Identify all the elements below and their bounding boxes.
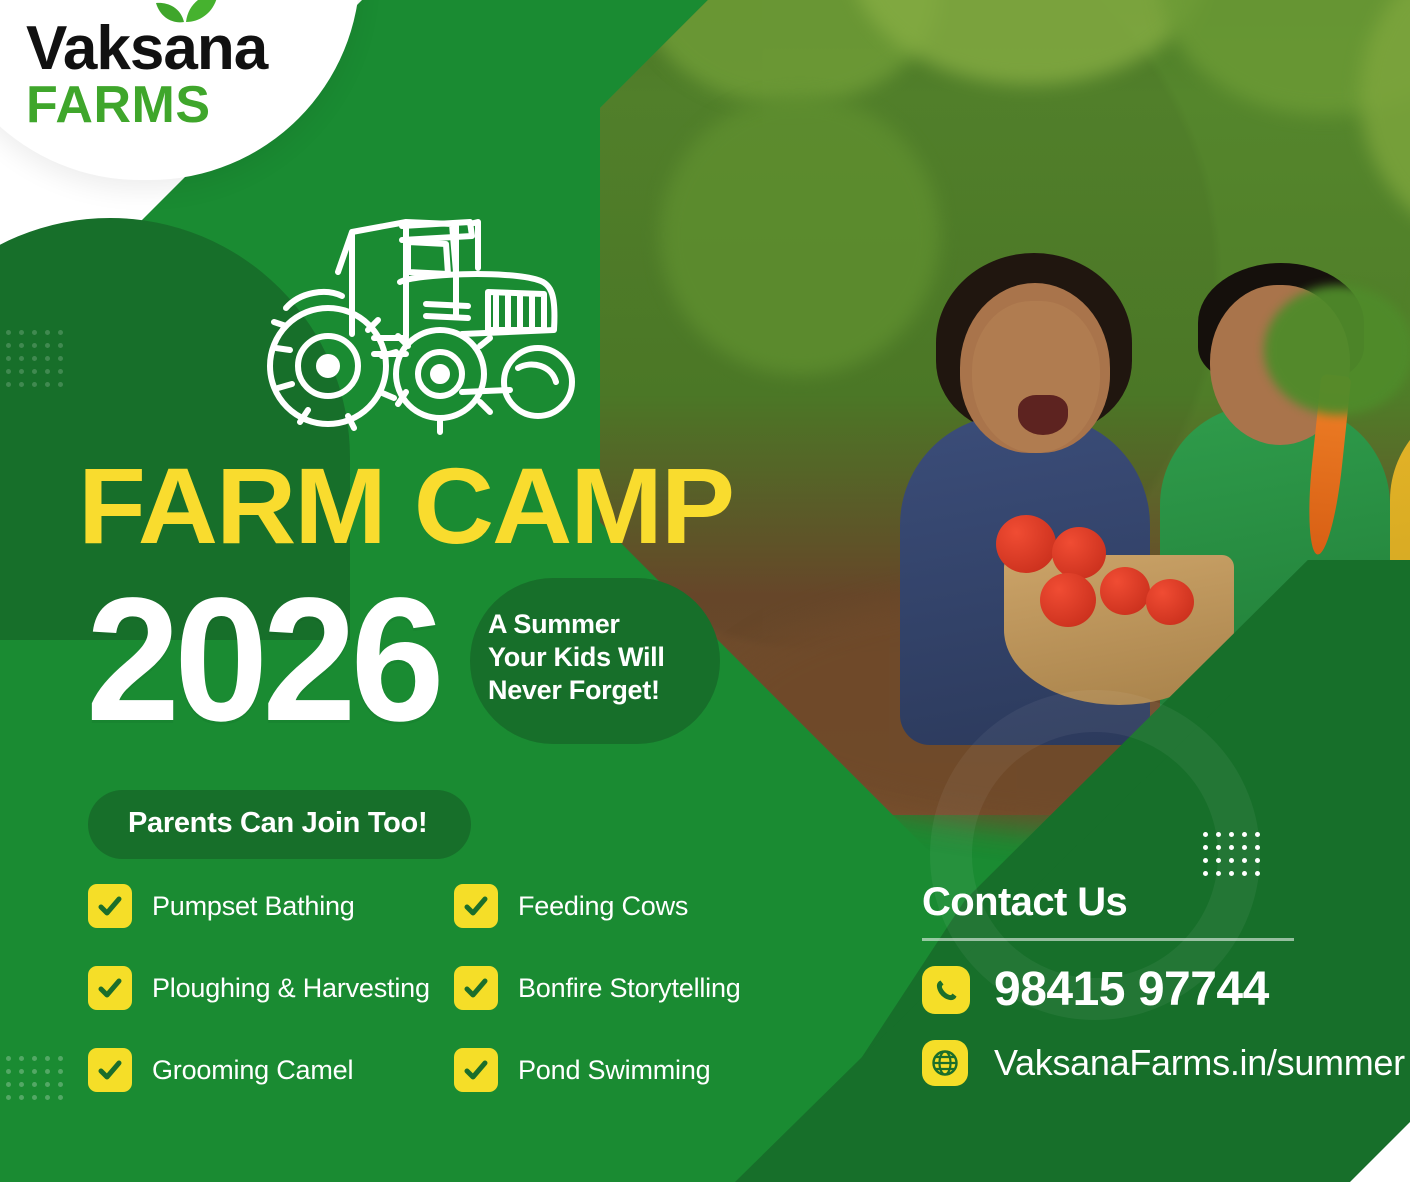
tagline-line-3: Never Forget!	[488, 674, 665, 707]
year-label: 2026	[86, 572, 439, 748]
check-icon	[454, 966, 498, 1010]
farm-camp-poster: Vaksana FARMS	[0, 0, 1410, 1182]
check-icon	[88, 1048, 132, 1092]
contact-website-url: VaksanaFarms.in/summer	[994, 1042, 1405, 1084]
list-item-label: Ploughing & Harvesting	[152, 973, 430, 1004]
dot-grid-bottom-left	[6, 1056, 71, 1108]
list-item: Feeding Cows	[454, 884, 778, 928]
tagline: A Summer Your Kids Will Never Forget!	[488, 608, 665, 708]
contact-phone[interactable]: 98415 97744	[922, 962, 1269, 1017]
brand-name-bottom: FARMS	[26, 78, 346, 133]
parents-badge-label: Parents Can Join Too!	[128, 807, 427, 839]
list-item-label: Bonfire Storytelling	[518, 973, 741, 1004]
tagline-line-1: A Summer	[488, 608, 665, 641]
parents-badge: Parents Can Join Too!	[88, 790, 471, 859]
contact-title: Contact Us	[922, 880, 1127, 925]
contact-phone-number: 98415 97744	[994, 962, 1269, 1017]
contact-website[interactable]: VaksanaFarms.in/summer	[922, 1040, 1405, 1086]
list-item: Bonfire Storytelling	[454, 966, 778, 1010]
dot-grid-contact	[1203, 832, 1268, 884]
list-item-label: Pond Swimming	[518, 1055, 710, 1086]
list-item: Pumpset Bathing	[88, 884, 454, 928]
brand-name-top: Vaksana	[26, 18, 346, 80]
check-icon	[454, 884, 498, 928]
brand-logo: Vaksana FARMS	[26, 18, 346, 133]
list-item-label: Grooming Camel	[152, 1055, 353, 1086]
phone-icon	[922, 966, 970, 1014]
leaf-icon	[152, 0, 222, 26]
list-item: Grooming Camel	[88, 1048, 454, 1092]
activities-list: Pumpset Bathing Feeding Cows Ploughing &…	[88, 884, 778, 1092]
check-icon	[454, 1048, 498, 1092]
tractor-icon	[256, 196, 606, 436]
check-icon	[88, 966, 132, 1010]
list-item-label: Feeding Cows	[518, 891, 688, 922]
tagline-line-2: Your Kids Will	[488, 641, 665, 674]
list-item: Pond Swimming	[454, 1048, 778, 1092]
list-item-label: Pumpset Bathing	[152, 891, 355, 922]
list-item: Ploughing & Harvesting	[88, 966, 454, 1010]
check-icon	[88, 884, 132, 928]
globe-icon	[922, 1040, 968, 1086]
contact-divider	[922, 938, 1294, 941]
dot-grid-left-edge	[6, 330, 71, 395]
page-title: FARM CAMP	[78, 452, 733, 560]
